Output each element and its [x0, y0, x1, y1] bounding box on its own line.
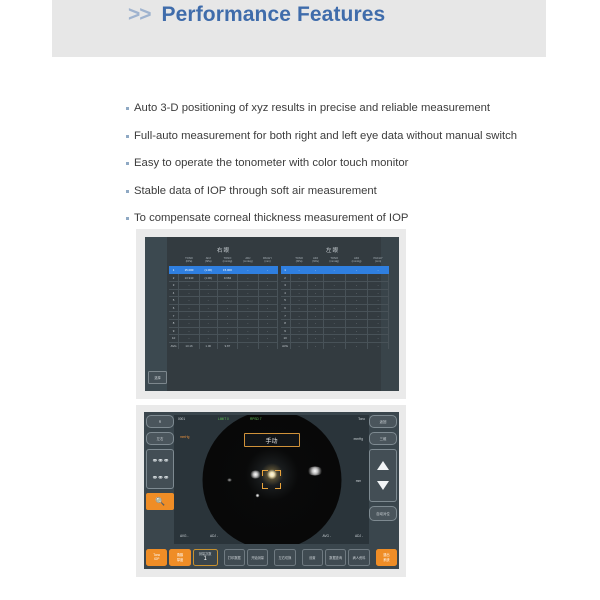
column-header: PACHY(mm) [258, 256, 277, 266]
toolbar-button[interactable]: 打印数据 [224, 549, 245, 566]
toolbar-button[interactable]: 数据查询 [325, 549, 346, 566]
toolbar-button-label: 打印数据 [228, 555, 241, 560]
table-cell: - [179, 319, 200, 327]
table-cell: - [308, 327, 323, 335]
table-cell: - [238, 304, 258, 312]
row-number-cell: 6 [169, 304, 179, 312]
table-cell: - [238, 297, 258, 305]
table-cell: - [345, 319, 367, 327]
table-cell: - [238, 342, 258, 349]
column-header: TONO(hPa) [179, 256, 200, 266]
table-cell: - [179, 327, 200, 335]
table-cell: 15.000 [217, 266, 238, 274]
table-cell: - [199, 297, 217, 305]
toolbar-button-sublabel: IOP [154, 557, 160, 561]
table-cell: - [179, 335, 200, 343]
measurement-mode-box[interactable]: 手动 [244, 433, 300, 447]
table-cell: - [323, 335, 345, 343]
arrow-up-icon[interactable] [377, 461, 389, 470]
eye-diagram-icon[interactable]: ⚭⚭⚭ [149, 469, 171, 486]
toolbar-button[interactable]: 左右切换 [274, 549, 295, 566]
bullet-square-icon [126, 135, 129, 138]
row-number-cell: 8 [281, 319, 291, 327]
table-cell: - [308, 342, 323, 349]
table-cell: - [345, 304, 367, 312]
table-cell: - [323, 342, 345, 349]
table-cell: - [238, 289, 258, 297]
limit-label: LIMIT 0 [218, 417, 229, 421]
row-number-cell: 9 [169, 327, 179, 335]
table-cell: - [290, 289, 308, 297]
list-item: Easy to operate the tonometer with color… [126, 156, 556, 170]
table-cell: - [258, 304, 277, 312]
double-chevron-icon: >> [128, 2, 151, 28]
table-cell: - [290, 266, 308, 274]
list-item: Stable data of IOP through soft air meas… [126, 184, 556, 198]
table-cell: - [179, 297, 200, 305]
table-cell: - [368, 282, 389, 290]
table-cell: - [368, 297, 389, 305]
right-panel-button-2[interactable]: 三维 [369, 432, 397, 445]
arrow-control-group[interactable] [369, 449, 397, 502]
table-cell: - [368, 327, 389, 335]
table-row[interactable]: 2----- [281, 274, 389, 282]
table-cell: - [258, 282, 277, 290]
device-interface-screenshot: R 左右 ⚭⚭⚭ ⚭⚭⚭ 🔍 手动 0001 LIMIT 0 RPSD 7 [136, 405, 406, 577]
table-cell: - [290, 297, 308, 305]
table-row[interactable]: 1----- [281, 266, 389, 274]
page-header-band: >> Performance Features [52, 0, 546, 57]
row-number-cell: 7 [169, 312, 179, 320]
table-cell: - [179, 304, 200, 312]
bullet-square-icon [126, 217, 129, 220]
left-panel-button-2[interactable]: 左右 [146, 432, 174, 445]
row-number-cell: 5 [281, 297, 291, 305]
row-number-cell: 10 [169, 335, 179, 343]
table-cell: (1.00) [199, 266, 217, 274]
toolbar-button-sublabel: 系统 [383, 557, 389, 562]
row-number-cell: 8 [169, 319, 179, 327]
table-cell: - [238, 319, 258, 327]
table-row[interactable]: 7----- [281, 312, 389, 320]
list-item: Auto 3-D positioning of xyz results in p… [126, 101, 556, 115]
left-panel-button-1[interactable]: R [146, 415, 174, 428]
table-cell: - [323, 327, 345, 335]
table-cell: 15.000 [179, 266, 200, 274]
corneal-reflection-glint [249, 470, 261, 478]
toolbar-button[interactable]: 角膜厚度 [169, 549, 190, 566]
table-cell: - [290, 327, 308, 335]
table-cell: - [368, 274, 389, 282]
right-eye-table[interactable]: TONO(hPa)ADJ(hPa)TONO(mmHg)ADJ(mmHg)PACH… [169, 256, 278, 349]
feature-text: Auto 3-D positioning of xyz results in p… [134, 101, 490, 115]
table-row[interactable]: 4----- [169, 289, 277, 297]
row-number-cell: 5 [169, 297, 179, 305]
table-cell: - [323, 274, 345, 282]
row-number-cell: 1 [169, 266, 179, 274]
table-row[interactable]: 3----- [169, 282, 277, 290]
table-row[interactable]: 5----- [281, 297, 389, 305]
table-row[interactable]: 9----- [169, 327, 277, 335]
table-row[interactable]: 9----- [281, 327, 389, 335]
table-cell: - [345, 312, 367, 320]
toolbar-button[interactable]: 开始测量 [247, 549, 268, 566]
toolbar-button-label: 病人资料 [353, 555, 366, 560]
left-eye-caption: 左眼 [278, 246, 387, 254]
toolbar-button-sublabel: 厚度 [177, 557, 183, 562]
table-cell: (1.00) [199, 274, 217, 282]
table-row[interactable]: 10----- [169, 335, 277, 343]
toolbar-button[interactable]: 退出系统 [376, 549, 397, 566]
table-cell: - [258, 312, 277, 320]
table-cell: - [290, 312, 308, 320]
table-cell: - [308, 319, 323, 327]
table-cell: - [179, 312, 200, 320]
table-cell: - [217, 312, 238, 320]
table-cell: - [323, 319, 345, 327]
right-control-panel: 返回 三维 自动对位 [369, 415, 397, 525]
table-cell: 9.684 [217, 274, 238, 282]
mmhg-unit-right: mmHg [354, 437, 363, 441]
feature-list: Auto 3-D positioning of xyz results in p… [126, 101, 556, 239]
eye-diagram-icon[interactable]: ⚭⚭⚭ [149, 452, 171, 469]
table-cell: - [323, 304, 345, 312]
table-cell: 13.910 [179, 274, 200, 282]
table-cell: - [323, 289, 345, 297]
table-cell: - [217, 319, 238, 327]
corneal-reflection-glint [306, 466, 323, 475]
table-cell: - [199, 327, 217, 335]
table-row[interactable]: 5----- [169, 297, 277, 305]
feature-text: To compensate corneal thickness measurem… [134, 211, 408, 225]
table-cell: - [345, 327, 367, 335]
table-row[interactable]: 6----- [281, 304, 389, 312]
feature-text: Stable data of IOP through soft air meas… [134, 184, 377, 198]
table-cell: - [258, 327, 277, 335]
table-cell: - [345, 266, 367, 274]
adj-left-value: ADJ - [210, 534, 218, 538]
table-cell: - [368, 304, 389, 312]
table-cell: - [238, 335, 258, 343]
adj-right-value: ADJ - [355, 534, 363, 538]
left-control-panel: R 左右 ⚭⚭⚭ ⚭⚭⚭ 🔍 [146, 415, 174, 510]
mmhg-unit-left: mmHg [180, 435, 189, 439]
auto-align-button[interactable]: 自动对位 [369, 506, 397, 521]
table-cell: - [345, 289, 367, 297]
table-cell: - [308, 312, 323, 320]
table-cell: - [323, 312, 345, 320]
table-cell: - [290, 304, 308, 312]
table-screen: 右眼 左眼 TONO(hPa)ADJ(hPa)TONO(mmHg)ADJ(mmH… [145, 237, 399, 391]
select-button[interactable]: 选择 [148, 371, 167, 384]
measurement-table-screenshot: 右眼 左眼 TONO(hPa)ADJ(hPa)TONO(mmHg)ADJ(mmH… [136, 229, 406, 399]
table-cell: - [238, 266, 258, 274]
row-number-cell: 7 [281, 312, 291, 320]
bullet-square-icon [126, 107, 129, 110]
table-cell: - [368, 266, 389, 274]
row-number-header [281, 256, 291, 266]
table-cell: - [345, 297, 367, 305]
table-cell: - [323, 282, 345, 290]
row-number-cell: 2 [281, 274, 291, 282]
column-header: PACHY(mm) [368, 256, 389, 266]
corneal-reflection-glint [226, 478, 232, 481]
table-cell: - [217, 282, 238, 290]
table-cell: - [345, 335, 367, 343]
toolbar-button-label: 开始测量 [251, 555, 264, 560]
magnifier-icon[interactable]: 🔍 [146, 493, 174, 510]
table-cell: - [308, 282, 323, 290]
eye-tables-wrapper: TONO(hPa)ADJ(hPa)TONO(mmHg)ADJ(mmHg)PACH… [169, 256, 389, 349]
table-row[interactable]: 6----- [169, 304, 277, 312]
table-cell: - [345, 282, 367, 290]
column-header: TONO(hPa) [290, 256, 308, 266]
eye-diagram-group[interactable]: ⚭⚭⚭ ⚭⚭⚭ [146, 449, 174, 489]
alignment-reticle-icon [262, 470, 281, 489]
row-number-cell: 3 [169, 282, 179, 290]
page-title: Performance Features [162, 2, 386, 28]
table-cell: - [368, 289, 389, 297]
table-cell: - [238, 327, 258, 335]
row-number-cell: 2 [169, 274, 179, 282]
row-number-header [169, 256, 179, 266]
bottom-toolbar: TonoIOP角膜厚度测量次数1打印数据开始测量左右切换设置数据查询病人资料退出… [146, 547, 397, 567]
row-number-cell: AVG [169, 342, 179, 349]
mm-unit-label: mm [356, 479, 361, 483]
right-panel-button-1[interactable]: 返回 [369, 415, 397, 428]
table-cell: - [368, 342, 389, 349]
header-title-group: >> Performance Features [128, 2, 385, 28]
table-cell: - [308, 266, 323, 274]
table-cell: - [290, 342, 308, 349]
table-cell: - [308, 304, 323, 312]
table-cell: - [308, 274, 323, 282]
table-cell: - [368, 312, 389, 320]
column-header: ADJ(mmHg) [345, 256, 367, 266]
table-cell: - [345, 274, 367, 282]
table-row[interactable]: 4----- [281, 289, 389, 297]
table-cell: 1.00 [199, 342, 217, 349]
table-cell: - [199, 289, 217, 297]
table-cell: - [323, 266, 345, 274]
right-eye-caption: 右眼 [169, 246, 278, 254]
toolbar-button-label: 设置 [309, 555, 315, 560]
table-cell: - [179, 282, 200, 290]
table-cell: - [258, 266, 277, 274]
table-row[interactable]: AVG13.161.009.87-- [169, 342, 277, 349]
table-row[interactable]: 115.000(1.00)15.000-- [169, 266, 277, 274]
table-cell: - [258, 319, 277, 327]
list-item: To compensate corneal thickness measurem… [126, 211, 556, 225]
table-cell: - [258, 274, 277, 282]
tono-label: Tono [358, 417, 365, 421]
table-cell: - [217, 297, 238, 305]
table-cell: - [323, 297, 345, 305]
column-header: TONO(mmHg) [323, 256, 345, 266]
table-cell: - [258, 289, 277, 297]
table-row[interactable]: 10----- [281, 335, 389, 343]
table-cell: - [345, 342, 367, 349]
column-header: ADJ(hPa) [308, 256, 323, 266]
table-row[interactable]: AVG----- [281, 342, 389, 349]
live-eye-view[interactable]: 手动 0001 LIMIT 0 RPSD 7 Tono mmHg mmHg mm… [174, 415, 369, 544]
toolbar-button[interactable]: 病人资料 [348, 549, 369, 566]
table-cell: - [308, 289, 323, 297]
column-header: TONO(mmHg) [217, 256, 238, 266]
list-item: Full-auto measurement for both right and… [126, 129, 556, 143]
table-cell: - [238, 274, 258, 282]
toolbar-button[interactable]: 测量次数1 [193, 549, 218, 566]
row-number-cell: 10 [281, 335, 291, 343]
table-cell: - [308, 335, 323, 343]
column-header: ADJ(mmHg) [238, 256, 258, 266]
toolbar-button-label: 左右切换 [279, 555, 292, 560]
avg-left-value: AVG - [180, 534, 188, 538]
arrow-down-icon[interactable] [377, 481, 389, 490]
table-cell: - [238, 282, 258, 290]
table-cell: - [258, 297, 277, 305]
table-row[interactable]: 213.910(1.00)9.684-- [169, 274, 277, 282]
table-cell: - [217, 335, 238, 343]
table-row[interactable]: 7----- [169, 312, 277, 320]
table-cell: - [290, 335, 308, 343]
corneal-reflection-glint [255, 493, 259, 497]
bullet-square-icon [126, 190, 129, 193]
table-cell: - [199, 312, 217, 320]
avg-right-value: AVG - [323, 534, 331, 538]
table-cell: 9.87 [217, 342, 238, 349]
table-row[interactable]: 3----- [281, 282, 389, 290]
table-cell: - [258, 342, 277, 349]
table-cell: - [199, 335, 217, 343]
table-cell: - [368, 319, 389, 327]
table-cell: 13.16 [179, 342, 200, 349]
patient-id-label: 0001 [178, 417, 185, 421]
row-number-cell: 3 [281, 282, 291, 290]
toolbar-button-label: 数据查询 [329, 555, 342, 560]
table-cell: - [290, 282, 308, 290]
row-number-cell: 4 [169, 289, 179, 297]
table-cell: - [199, 282, 217, 290]
toolbar-button[interactable]: 设置 [302, 549, 323, 566]
row-number-cell: 1 [281, 266, 291, 274]
device-screen: R 左右 ⚭⚭⚭ ⚭⚭⚭ 🔍 手动 0001 LIMIT 0 RPSD 7 [144, 412, 399, 569]
toolbar-button-sublabel: 1 [203, 556, 206, 563]
table-row[interactable]: 8----- [281, 319, 389, 327]
bullet-square-icon [126, 162, 129, 165]
table-left-rail [145, 237, 167, 391]
table-cell: - [368, 335, 389, 343]
row-number-cell: 4 [281, 289, 291, 297]
rpsd-label: RPSD 7 [250, 417, 262, 421]
table-cell: - [308, 297, 323, 305]
toolbar-button[interactable]: TonoIOP [146, 549, 167, 566]
table-row[interactable]: 8----- [169, 319, 277, 327]
eye-caption-row: 右眼 左眼 [169, 246, 387, 254]
table-cell: - [217, 304, 238, 312]
row-number-cell: 6 [281, 304, 291, 312]
table-cell: - [258, 335, 277, 343]
column-header: ADJ(hPa) [199, 256, 217, 266]
table-cell: - [290, 274, 308, 282]
row-number-cell: AVG [281, 342, 291, 349]
table-cell: - [238, 312, 258, 320]
table-cell: - [217, 327, 238, 335]
table-cell: - [199, 319, 217, 327]
table-cell: - [217, 289, 238, 297]
feature-text: Full-auto measurement for both right and… [134, 129, 517, 143]
row-number-cell: 9 [281, 327, 291, 335]
table-cell: - [290, 319, 308, 327]
left-eye-table[interactable]: TONO(hPa)ADJ(hPa)TONO(mmHg)ADJ(mmHg)PACH… [281, 256, 390, 349]
feature-text: Easy to operate the tonometer with color… [134, 156, 408, 170]
table-cell: - [179, 289, 200, 297]
table-cell: - [199, 304, 217, 312]
